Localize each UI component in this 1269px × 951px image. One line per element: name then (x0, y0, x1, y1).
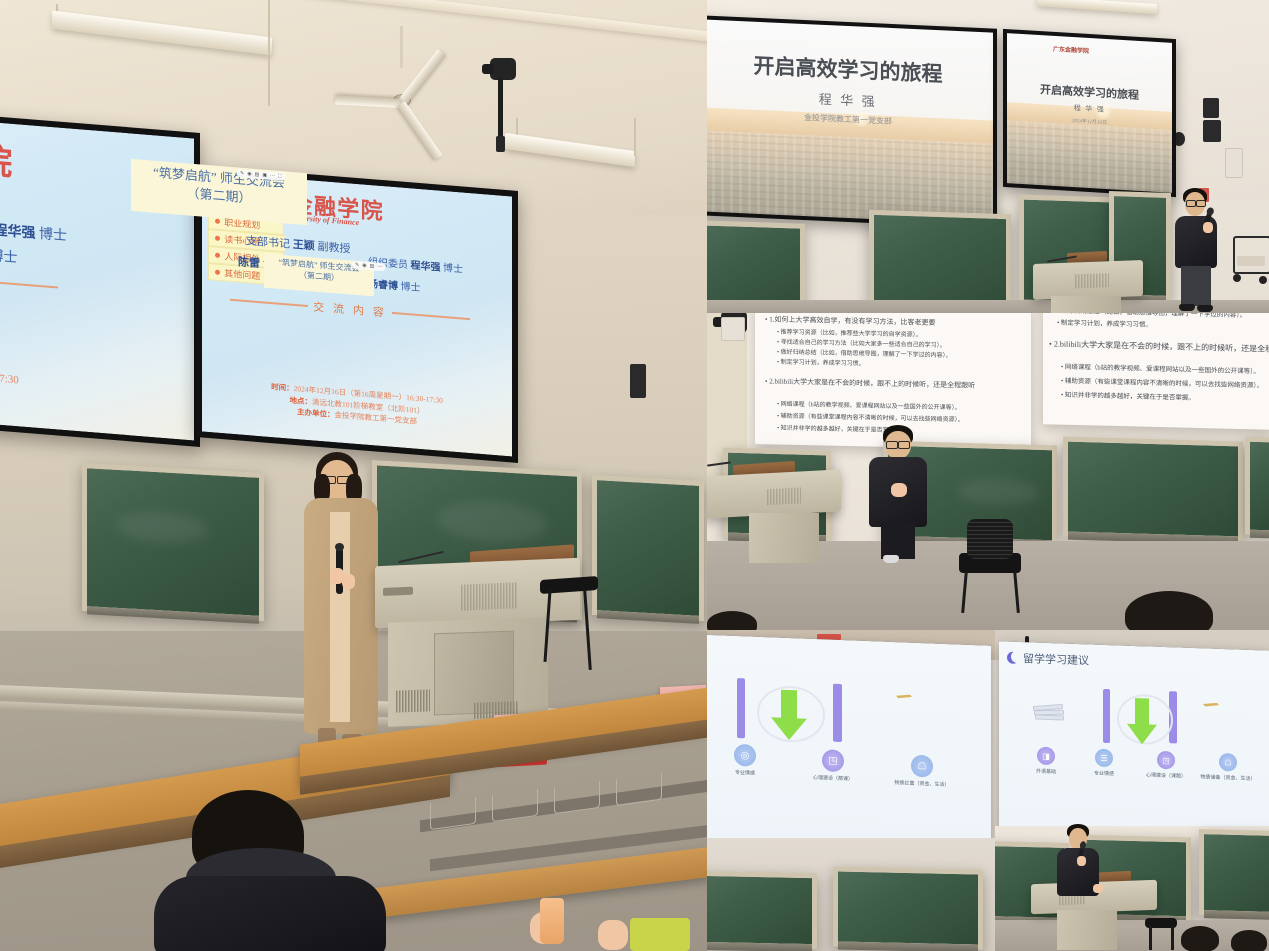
speaker-person (1169, 188, 1229, 313)
hand (342, 574, 355, 589)
university-logo-cn: 广东金融学院 (0, 119, 14, 185)
icon-item: ☖ 物质红富（资金、生活） (879, 753, 965, 788)
university-logo-cn: 广东金融学院 (1053, 44, 1089, 55)
role-line-3: 组织委员 程华强 博士 (0, 216, 67, 248)
wall-speaker-icon (630, 364, 646, 398)
chair (540, 578, 600, 678)
profession-icon: ◎ (734, 744, 756, 767)
trousers (881, 523, 915, 559)
profession-icon: ☰ (1095, 749, 1113, 768)
blackboard (82, 463, 264, 621)
pen-icon[interactable]: ✎ (240, 170, 244, 176)
audience-head (1231, 930, 1267, 951)
speaker-person (1057, 824, 1107, 924)
bullet-dot (215, 270, 220, 275)
wall-speaker-icon (1203, 98, 1219, 118)
more-options-icon[interactable]: ⋯ (377, 264, 382, 270)
psychology-icon: ◳ (1157, 751, 1175, 770)
decor-bar (1103, 689, 1110, 743)
slide-view-icon[interactable]: ▤ (370, 263, 375, 269)
yellow-item (630, 918, 690, 951)
hand (598, 920, 628, 950)
text-slide-right: • 做好归纳总结（比如，借助思维导图，理解了一下学过的内容）。 • 制定学习计划… (1043, 313, 1269, 430)
books-icon (1033, 704, 1063, 721)
moon-icon (1007, 652, 1019, 664)
icon-label: 心理建设（那课） (795, 773, 871, 783)
blackboard (592, 475, 704, 621)
slide-heading: 留学学习建议 (1007, 650, 1089, 669)
shoe (1197, 305, 1213, 312)
icon-label: 外语基础 (1021, 767, 1071, 776)
blackboard (1245, 437, 1269, 536)
panel-main-lecture-hall: 广东金融学院 Guangdong University of Finance 支… (0, 0, 707, 951)
glasses (886, 441, 898, 449)
lectern-slot (383, 587, 413, 596)
slide-line: • 制定学习计划，养成学习习惯。 (777, 357, 865, 368)
psychology-icon: ◳ (822, 749, 844, 772)
slide-line: • 1.如何上大学高效自学，有没有学习方法，比客老更要 (765, 314, 935, 328)
laser-pointer-icon[interactable]: ◉ (247, 171, 251, 177)
blackboard (707, 871, 817, 950)
slide-line: • 辅助资源（有些课堂课程内容不清晰的时候，可以去找些网络资源）。 (1061, 375, 1263, 390)
notes-icon[interactable]: ▣ (262, 172, 267, 178)
laser-pointer-dot (896, 694, 912, 699)
material-icon: ☖ (1219, 753, 1237, 772)
panel-wide-screen-presentation: 开启高效学习的旅程 程 华 强 金投学院教工第一党支部 广东金融学院 开启高效学… (707, 0, 1269, 313)
lectern-vent (396, 689, 430, 712)
bullet-dot (215, 219, 220, 224)
slide-line: • 制定学习计划，养成学习习惯。 (1057, 317, 1152, 329)
blackboard (1063, 436, 1243, 541)
icon-item: ☖ 物质储备（资金、生活） (1195, 752, 1261, 782)
icon-label: 专业情感 (1079, 769, 1129, 778)
glasses (1196, 200, 1206, 207)
icon-label: 心理建设（课题） (1137, 771, 1195, 780)
hand (1203, 222, 1213, 233)
lectern-top (1033, 260, 1143, 300)
slide-line: • 辅助资源（有些课堂课程内容不清晰的时候，可以去找些网络资源）。 (777, 411, 964, 424)
slide-footer-left: 2024年12月16日（第16周星期一）16:30-17:30 地点：清远北教1… (0, 358, 194, 438)
trousers (1181, 266, 1211, 306)
slide-line: • 2.bilibili大学大家是在不会的时候，跟不上的时候听，还是全程跟听 (765, 376, 975, 390)
panel-study-abroad-slide: 留学学习建议 ◨ 外语基础 (995, 630, 1269, 951)
slide-line: • 知识并非学的越多越好，关键在于是否掌握。 (1061, 389, 1195, 402)
glasses (898, 441, 910, 449)
blackboard (833, 866, 983, 949)
lectern-body (749, 513, 819, 563)
light-stem (634, 118, 636, 156)
slide-line: • 2.bilibili大学大家是在不会的时候，跟不上的时候听，还是全程跟听 (1049, 338, 1269, 355)
blackboard (1199, 829, 1269, 917)
bullet-dot (215, 253, 220, 258)
projection-screen: 留学学习建议 ◨ 外语基础 (999, 641, 1269, 844)
projection-screen: ◎ 专业情感 ◳ 心理建设（那课） ☖ 物质红富（资金、生活） (707, 634, 991, 856)
panel-text-slide-presentation: 学习方法 • 1.如何上大学高效自学，有没有学习方法，比客老更要 • 推荐学习资… (707, 313, 1269, 630)
more-options-icon[interactable]: ⋯ (270, 173, 275, 179)
section-divider: 交 流 内 容 (230, 292, 470, 327)
projection-screen-left: 广东金融学院 Guangdong University of Finance 支… (0, 103, 200, 447)
light-stem (268, 0, 270, 106)
shoe (1179, 304, 1195, 311)
hand (1093, 884, 1103, 893)
hand (1077, 856, 1086, 866)
chair-back (967, 519, 1013, 559)
wall-switch-panel (721, 317, 745, 341)
chair (1145, 918, 1179, 951)
wall-switch-panel (1225, 148, 1243, 178)
security-camera-icon (490, 58, 516, 80)
pen-icon[interactable]: ✎ (355, 262, 359, 268)
icon-item: ◳ 心理建设（课题） (1137, 750, 1195, 780)
camera-pole (498, 78, 503, 140)
role-line-4: 杨睿博 博士 (0, 242, 18, 269)
bullet-dot (215, 236, 220, 241)
icon-item: ◨ 外语基础 (1021, 746, 1071, 776)
water-bottle (540, 898, 564, 944)
audience-head (1181, 926, 1219, 951)
hands-clasped (891, 483, 907, 497)
decor-bar (737, 678, 745, 738)
icon-label: 物质红富（资金、生活） (879, 778, 965, 788)
slide-footer-right: 时间：2024年12月16日（第16周星期一）16:30-17:30 地点：清远… (202, 376, 512, 436)
audience-student (140, 790, 440, 951)
ceiling-fan-icon (335, 66, 467, 132)
icon-label: 专业情感 (715, 768, 775, 777)
icon-item: ◎ 专业情感 (715, 743, 775, 777)
shoe (883, 555, 899, 563)
down-arrow-icon (1127, 698, 1157, 743)
glasses (1186, 200, 1196, 207)
lectern-top (707, 469, 841, 518)
down-arrow-icon (771, 689, 807, 738)
slide-view-icon[interactable]: ▤ (255, 172, 260, 178)
decor-bar (833, 684, 842, 742)
icon-label: 物质储备（资金、生活） (1195, 773, 1261, 782)
lectern-body (1051, 296, 1121, 313)
slide-title: 开启高效学习的旅程 (707, 47, 993, 90)
material-icon: ☖ (911, 755, 933, 778)
equipment-cart (1231, 236, 1269, 292)
wall-speaker-icon (1203, 120, 1221, 142)
black-jacket (154, 876, 386, 951)
speaker-person (867, 425, 937, 565)
chair (959, 521, 1023, 613)
slide-line: • 网络课程（b站的教学视频、爱课程网站以及一些国外的公开课等）。 (777, 399, 961, 412)
blackboard (869, 210, 1011, 313)
projection-screen-2: 广东金融学院 开启高效学习的旅程 程 华 强 2024年12月16日 (1003, 29, 1176, 197)
fullscreen-icon[interactable]: ⛶ (278, 173, 282, 179)
language-icon: ◨ (1037, 747, 1055, 766)
audience-head (707, 611, 757, 630)
projection-screen-1: 开启高效学习的旅程 程 华 强 金投学院教工第一党支部 (707, 15, 997, 229)
lectern-vent (461, 582, 517, 610)
icon-item: ◳ 心理建设（那课） (795, 748, 871, 783)
icon-item: ☰ 专业情感 (1079, 748, 1129, 778)
laser-pointer-dot (1203, 702, 1219, 707)
panel-icon-slide-closeup: ◎ 专业情感 ◳ 心理建设（那课） ☖ 物质红富（资金、生活） (707, 630, 995, 951)
photo-collage: 广东金融学院 Guangdong University of Finance 支… (0, 0, 1269, 951)
slide-line: • 网络课程（b站的教学视频、爱课程网站以及一些国外的公开课等）。 (1061, 361, 1260, 376)
role-line-4: 杨睿博 博士 (368, 277, 421, 296)
slide-content-left: 广东金融学院 Guangdong University of Finance 支… (0, 110, 194, 441)
laser-pointer-icon[interactable]: ◉ (362, 262, 366, 268)
